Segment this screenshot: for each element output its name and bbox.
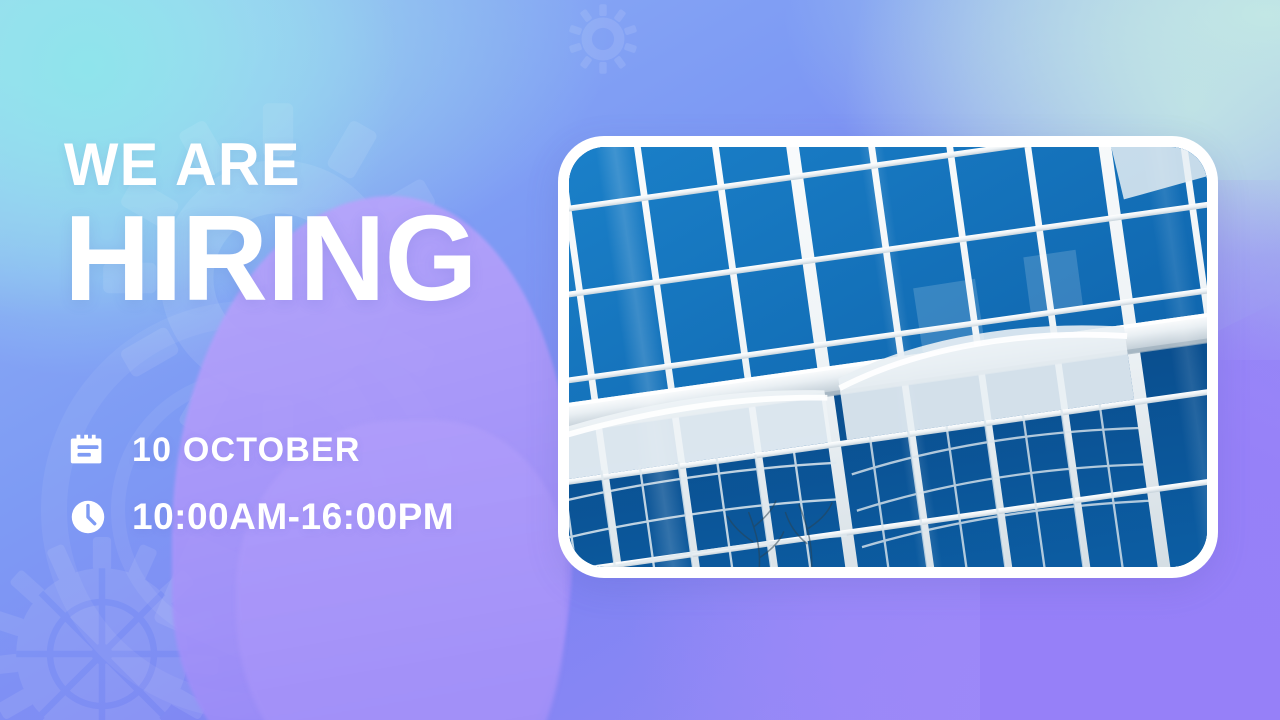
event-date-row: 10 OCTOBER <box>66 428 361 472</box>
clock-icon <box>66 495 110 539</box>
hiring-poster: WE ARE HIRING 10 OCTOBER 10:00AM-16:00PM <box>0 0 1280 720</box>
event-time-label: 10:00AM-16:00PM <box>132 496 454 538</box>
event-time-row: 10:00AM-16:00PM <box>66 495 454 539</box>
kicker-text: WE ARE <box>64 136 563 194</box>
headline-block: WE ARE HIRING <box>64 136 584 310</box>
office-building-photo <box>569 147 1207 567</box>
calendar-icon <box>66 428 110 472</box>
photo-card <box>558 136 1218 578</box>
event-date-label: 10 OCTOBER <box>132 431 361 470</box>
headline-text: HIRING <box>64 206 574 310</box>
